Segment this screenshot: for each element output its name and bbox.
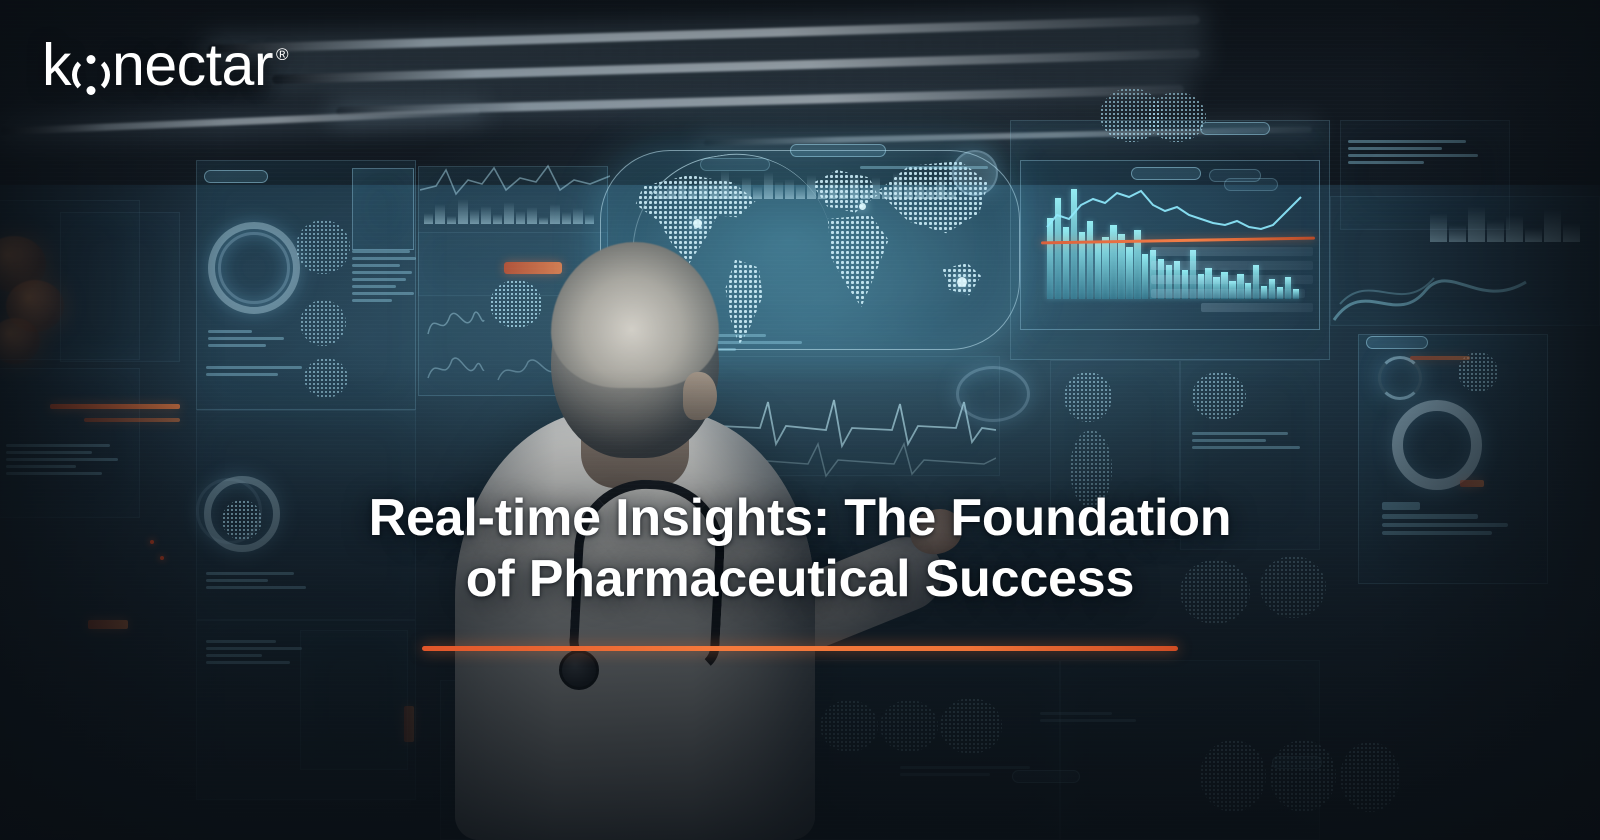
brand-name-prefix: k	[42, 36, 71, 95]
vignette-overlay	[0, 0, 1600, 840]
background-scene	[0, 0, 1600, 840]
accent-underline	[422, 646, 1178, 651]
page-title: Real-time Insights: The Foundation of Ph…	[0, 488, 1600, 611]
hero-banner: k nectar ® Real-time Insights: The Found…	[0, 0, 1600, 840]
brand-logo[interactable]: k nectar ®	[42, 36, 288, 95]
headline-line-1: Real-time Insights: The Foundation	[369, 489, 1232, 547]
brand-name-suffix: nectar	[112, 36, 273, 95]
broken-ring-node-icon	[72, 56, 110, 94]
trademark-symbol: ®	[276, 46, 288, 63]
headline-line-2: of Pharmaceutical Success	[150, 549, 1450, 610]
